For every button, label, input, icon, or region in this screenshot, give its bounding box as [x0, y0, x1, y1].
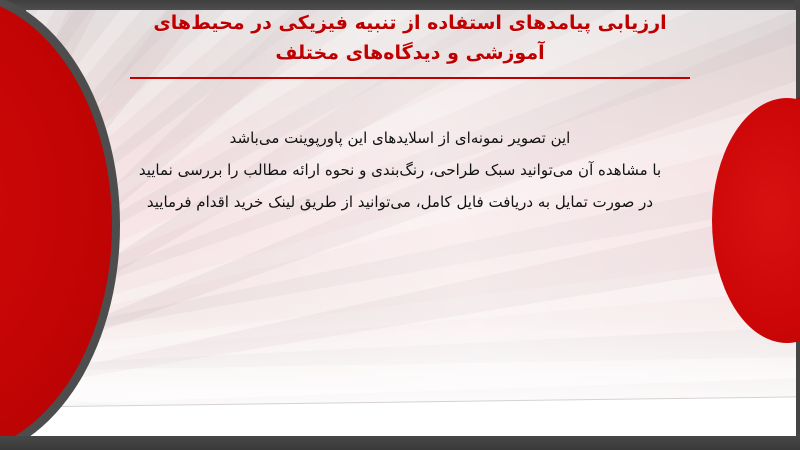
- panel-bottom-slant-edge: [26, 395, 796, 436]
- body-line-2: با مشاهده آن می‌توانید سبک طراحی، رنگ‌بن…: [70, 154, 730, 186]
- background-stripe-texture-secondary: [26, 10, 796, 436]
- presentation-slide: ارزیابی پیامدهای استفاده از تنبیه فیزیکی…: [0, 0, 800, 450]
- slide-body-text: این تصویر نمونه‌ای از اسلایدهای این پاور…: [70, 122, 730, 218]
- background-bottom-fade: [26, 316, 796, 436]
- body-line-1: این تصویر نمونه‌ای از اسلایدهای این پاور…: [70, 122, 730, 154]
- slide-content-panel: [26, 10, 796, 436]
- title-underline-rule: [130, 77, 690, 79]
- body-line-3: در صورت تمایل به دریافت فایل کامل، می‌تو…: [70, 186, 730, 218]
- slide-title-line-2: آموزشی و دیدگاه‌های مختلف: [60, 38, 760, 68]
- background-stripe-texture: [26, 10, 796, 436]
- slide-frame-bottom: [0, 436, 800, 450]
- slide-title: ارزیابی پیامدهای استفاده از تنبیه فیزیکی…: [60, 8, 760, 68]
- background-sheen: [26, 10, 796, 436]
- slide-title-line-1: ارزیابی پیامدهای استفاده از تنبیه فیزیکی…: [60, 8, 760, 38]
